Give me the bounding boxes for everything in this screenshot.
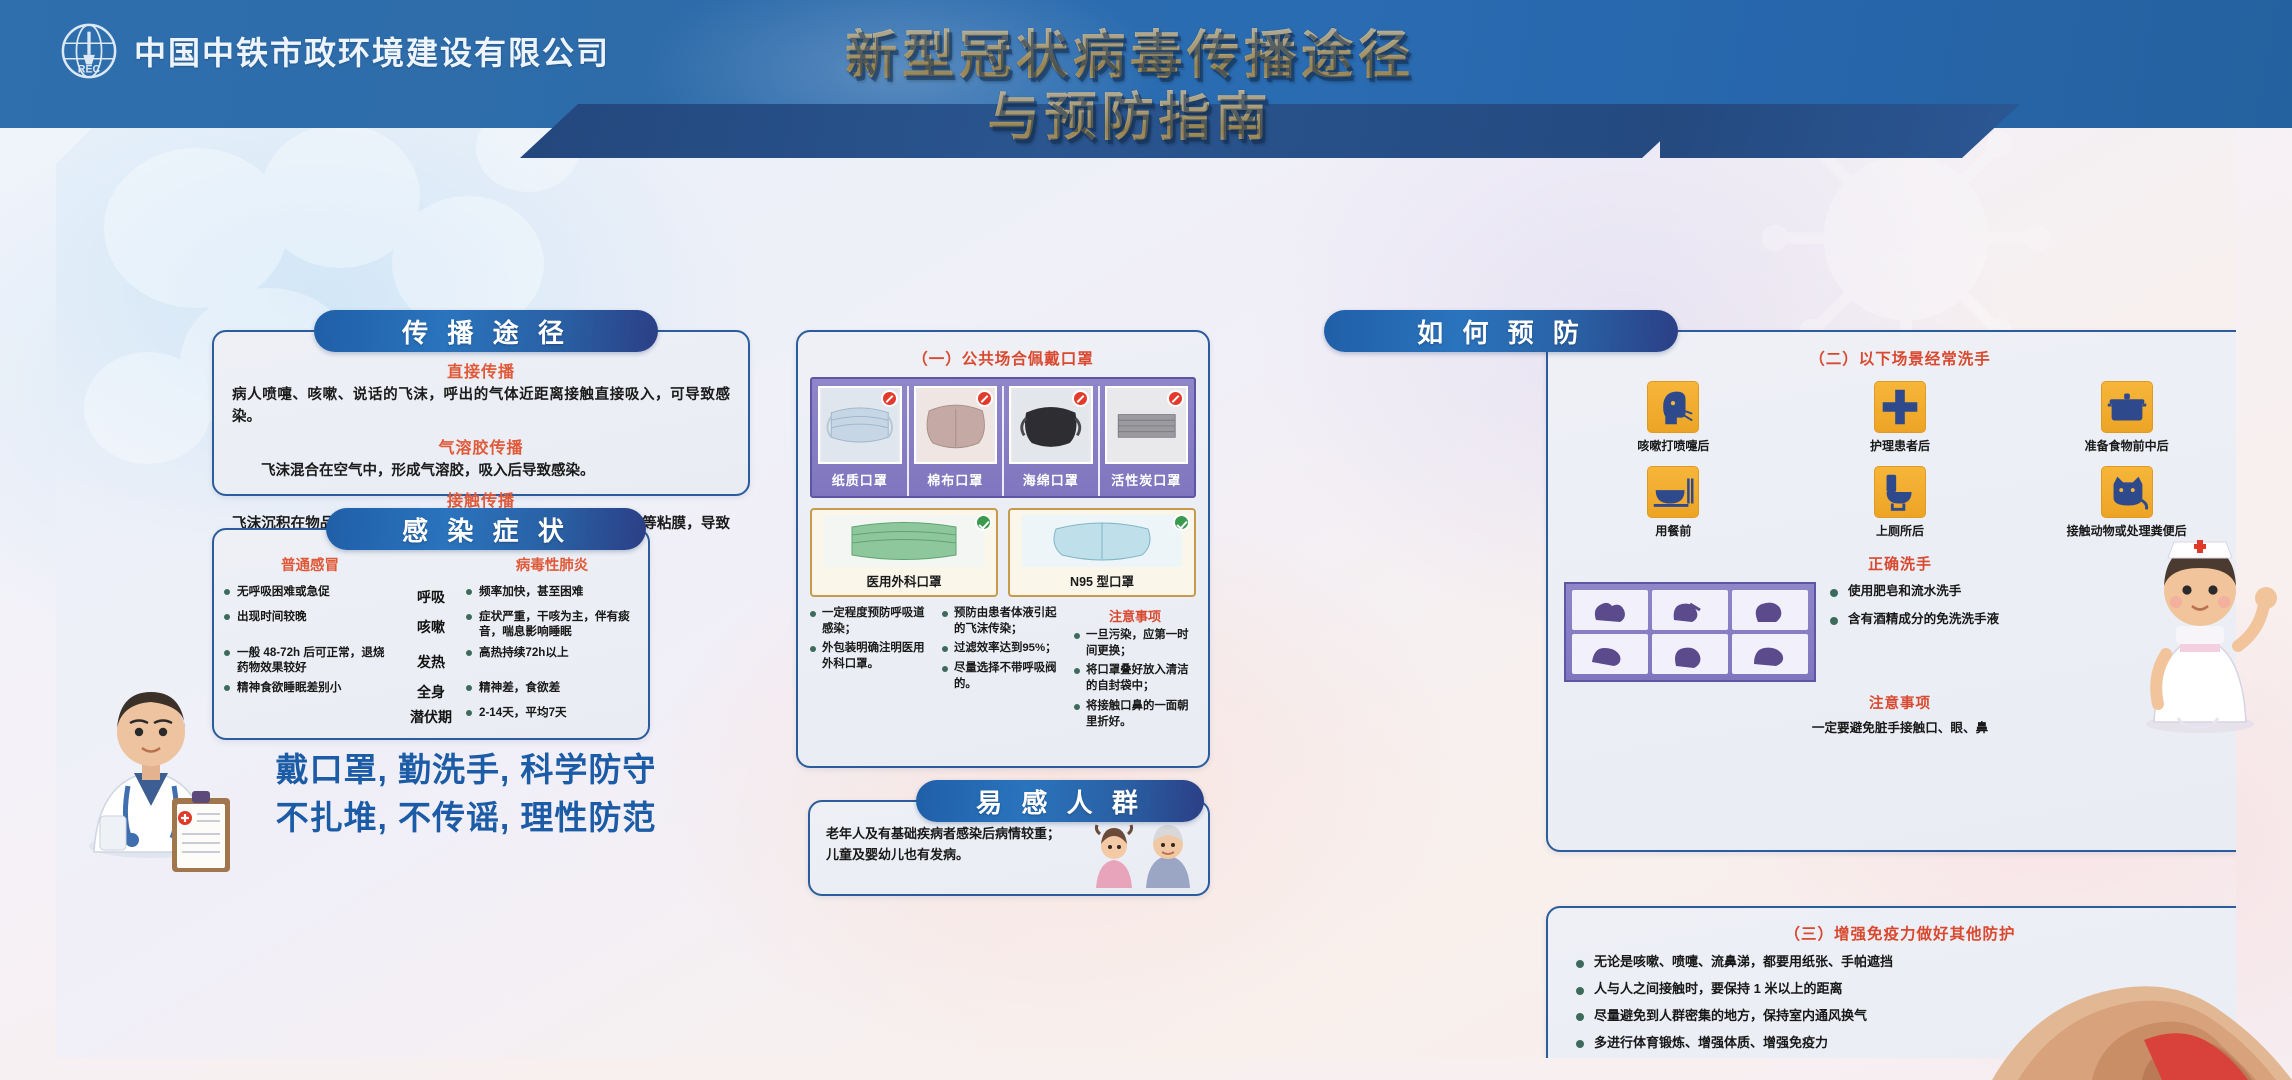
content-frame: 传 播 途 径 直接传播 病人喷嚏、咳嗽、说话的飞沫，呼出的气体近距离接触直接吸…	[56, 128, 2236, 1058]
symptom-left-1: 无呼吸困难或急促	[224, 584, 396, 599]
crec-globe-logo-icon: REC	[60, 22, 118, 80]
sneezing-head-icon	[1647, 381, 1699, 433]
divider	[1098, 386, 1100, 496]
symptom-category-5: 潜伏期	[402, 707, 460, 727]
transmission-card: 直接传播 病人喷嚏、咳嗽、说话的飞沫，呼出的气体近距离接触直接吸入，可导致感染。…	[212, 330, 750, 496]
handwash-step	[1572, 590, 1648, 630]
clasped-hands-illustration	[1992, 930, 2292, 1080]
mask-card: （一）公共场合佩戴口罩 纸质口罩	[796, 330, 1210, 768]
list-item: 海绵口罩	[1009, 386, 1093, 496]
scenario-label: 准备食物前中后	[2017, 439, 2236, 454]
symptom-category-2: 咳嗽	[402, 617, 460, 637]
symptoms-table: 普通感冒 病毒性肺炎 无呼吸困难或急促 呼吸 频率加快，甚至困难 出现时间较晚 …	[214, 530, 648, 738]
cooking-pot-icon	[2101, 381, 2153, 433]
slogan-line-2: 不扎堆, 不传谣, 理性防范	[256, 794, 676, 842]
table-row: 高热持续72h以上	[466, 645, 638, 680]
table-row: 2-14天，平均7天	[466, 705, 638, 730]
divider	[907, 386, 909, 496]
mask-notes-block: 一定程度预防呼吸道感染； 外包装明确注明医用外科口罩。 预防由患者体液引起的飞沫…	[810, 606, 1196, 734]
medical-clipboard-icon	[168, 788, 234, 874]
poster-root: REC 中国中铁市政环境建设有限公司 新型冠状病毒传播途径 与预防指南	[0, 0, 2292, 1080]
seven-step-handwash-diagram	[1564, 582, 1816, 682]
list-item: 棉布口罩	[914, 386, 998, 496]
medical-cross-icon	[1874, 381, 1926, 433]
title-line-1: 新型冠状病毒传播途径	[770, 28, 1490, 84]
transmission-text-1: 病人喷嚏、咳嗽、说话的飞沫，呼出的气体近距离接触直接吸入，可导致感染。	[232, 385, 730, 429]
symptom-category-1: 呼吸	[402, 587, 460, 607]
symptom-right-3: 高热持续72h以上	[466, 645, 638, 660]
mask-label: 活性炭口罩	[1105, 464, 1189, 496]
approved-icon	[1173, 514, 1190, 531]
symptom-category-3: 发热	[402, 652, 460, 672]
list-item: 预防由患者体液引起的飞沫传染；	[942, 606, 1064, 637]
transmission-subheading-1: 直接传播	[232, 358, 730, 382]
list-item: 外包装明确注明医用外科口罩。	[810, 641, 932, 672]
nurse-illustration	[2114, 486, 2286, 734]
handwash-step	[1732, 634, 1808, 674]
scenario-label: 用餐前	[1564, 524, 1783, 539]
page-title: 新型冠状病毒传播途径 与预防指南	[770, 28, 1490, 146]
surgical-mask-photo	[817, 515, 991, 567]
handwash-step	[1652, 634, 1728, 674]
symptoms-col-header-left: 普通感冒	[224, 554, 396, 584]
scenario-label: 护理患者后	[1791, 439, 2010, 454]
table-row: 无呼吸困难或急促	[224, 584, 396, 609]
section-heading-prevention: 如 何 预 防	[1324, 310, 1678, 352]
section-heading-transmission: 传 播 途 径	[314, 310, 658, 352]
slogan-block: 戴口罩, 勤洗手, 科学防守 不扎堆, 不传谣, 理性防范	[256, 746, 676, 842]
symptom-category-4: 全身	[402, 682, 460, 702]
symptom-left-2: 出现时间较晚	[224, 609, 396, 624]
slogan-line-1: 戴口罩, 勤洗手, 科学防守	[256, 746, 676, 794]
list-item: 将口罩叠好放入清洁的自封袋中；	[1074, 663, 1196, 694]
mask-section-title: （一）公共场合佩戴口罩	[810, 347, 1196, 369]
table-row: 出现时间较晚	[224, 609, 396, 644]
mask-notes-mid: 预防由患者体液引起的飞沫传染； 过滤效率达到95%； 尽量选择不带呼吸阀的。	[942, 606, 1064, 734]
list-item: 上厕所后	[1791, 466, 2010, 539]
sponge-mask-photo	[1009, 386, 1093, 464]
paper-mask-photo	[818, 386, 902, 464]
list-item: 将接触口鼻的一面朝里折好。	[1074, 699, 1196, 730]
scenario-label: 上厕所后	[1791, 524, 2010, 539]
list-item: 纸质口罩	[818, 386, 902, 496]
banned-icon	[1072, 390, 1089, 407]
symptom-right-4: 精神差，食欲差	[466, 680, 638, 695]
approved-icon	[975, 514, 992, 531]
n95-mask-photo	[1015, 515, 1189, 567]
table-row	[224, 705, 396, 730]
table-row: 精神食欲睡眠差别小	[224, 680, 396, 705]
handwash-step	[1572, 634, 1648, 674]
svg-text:REC: REC	[78, 63, 101, 75]
list-item: 一旦污染，应第一时间更换；	[1074, 628, 1196, 659]
list-item: 准备食物前中后	[2017, 381, 2236, 454]
symptoms-col-header-right: 病毒性肺炎	[466, 554, 638, 584]
symptom-right-2: 症状严重，干咳为主，伴有痰音，喘息影响睡眠	[466, 609, 638, 639]
list-item: N95 型口罩	[1008, 508, 1196, 597]
mask-notes-right: 注意事项 一旦污染，应第一时间更换； 将口罩叠好放入清洁的自封袋中； 将接触口鼻…	[1074, 606, 1196, 734]
handwash-step	[1652, 590, 1728, 630]
mask-label: N95 型口罩	[1015, 567, 1189, 590]
title-line-2: 与预防指南	[770, 90, 1490, 146]
company-name: 中国中铁市政环境建设有限公司	[134, 28, 610, 74]
divider	[1002, 386, 1004, 496]
handwash-step	[1732, 590, 1808, 630]
list-item: 一定程度预防呼吸道感染；	[810, 606, 932, 637]
scenario-label: 咳嗽打喷嚏后	[1564, 439, 1783, 454]
toilet-icon	[1874, 466, 1926, 518]
list-item: 护理患者后	[1791, 381, 2010, 454]
banned-icon	[1167, 390, 1184, 407]
carbon-mask-photo	[1105, 386, 1189, 464]
symptoms-card: 普通感冒 病毒性肺炎 无呼吸困难或急促 呼吸 频率加快，甚至困难 出现时间较晚 …	[212, 528, 650, 740]
symptom-right-5: 2-14天，平均7天	[466, 705, 638, 720]
transmission-subheading-2: 气溶胶传播	[232, 434, 730, 458]
brand-block: REC 中国中铁市政环境建设有限公司	[60, 22, 610, 80]
section-heading-susceptible: 易 感 人 群	[916, 780, 1204, 822]
mask-notes-left: 一定程度预防呼吸道感染； 外包装明确注明医用外科口罩。	[810, 606, 932, 734]
title-plate-right	[1660, 104, 2020, 158]
list-item: 咳嗽打喷嚏后	[1564, 381, 1783, 454]
elderly-and-child-illustration	[1082, 818, 1202, 892]
mask-label: 纸质口罩	[818, 464, 902, 496]
mask-label: 海绵口罩	[1009, 464, 1093, 496]
symptom-left-3: 一般 48-72h 后可正常，退烧药物效果较好	[224, 645, 396, 675]
meal-bowl-icon	[1647, 466, 1699, 518]
table-row: 精神差，食欲差	[466, 680, 638, 705]
table-row: 症状严重，干咳为主，伴有痰音，喘息影响睡眠	[466, 609, 638, 644]
symptom-right-1: 频率加快，甚至困难	[466, 584, 638, 599]
cloth-mask-photo	[914, 386, 998, 464]
not-recommended-mask-strip: 纸质口罩 棉布口罩	[810, 377, 1196, 498]
mask-label: 棉布口罩	[914, 464, 998, 496]
banned-icon	[976, 390, 993, 407]
table-row: 频率加快，甚至困难	[466, 584, 638, 609]
transmission-text-2: 飞沫混合在空气中，形成气溶胶，吸入后导致感染。	[232, 461, 730, 483]
list-item: 尽量选择不带呼吸阀的。	[942, 661, 1064, 692]
list-item: 活性炭口罩	[1105, 386, 1189, 496]
list-item: 用餐前	[1564, 466, 1783, 539]
banned-icon	[881, 390, 898, 407]
mask-notes-heading: 注意事项	[1074, 606, 1196, 625]
table-row: 一般 48-72h 后可正常，退烧药物效果较好	[224, 645, 396, 680]
symptom-left-4: 精神食欲睡眠差别小	[224, 680, 396, 695]
section-heading-symptoms: 感 染 症 状	[326, 508, 646, 550]
list-item: 过滤效率达到95%；	[942, 641, 1064, 657]
recommended-mask-row: 医用外科口罩 N95 型口罩	[810, 508, 1196, 597]
mask-label: 医用外科口罩	[817, 567, 991, 590]
list-item: 医用外科口罩	[810, 508, 998, 597]
